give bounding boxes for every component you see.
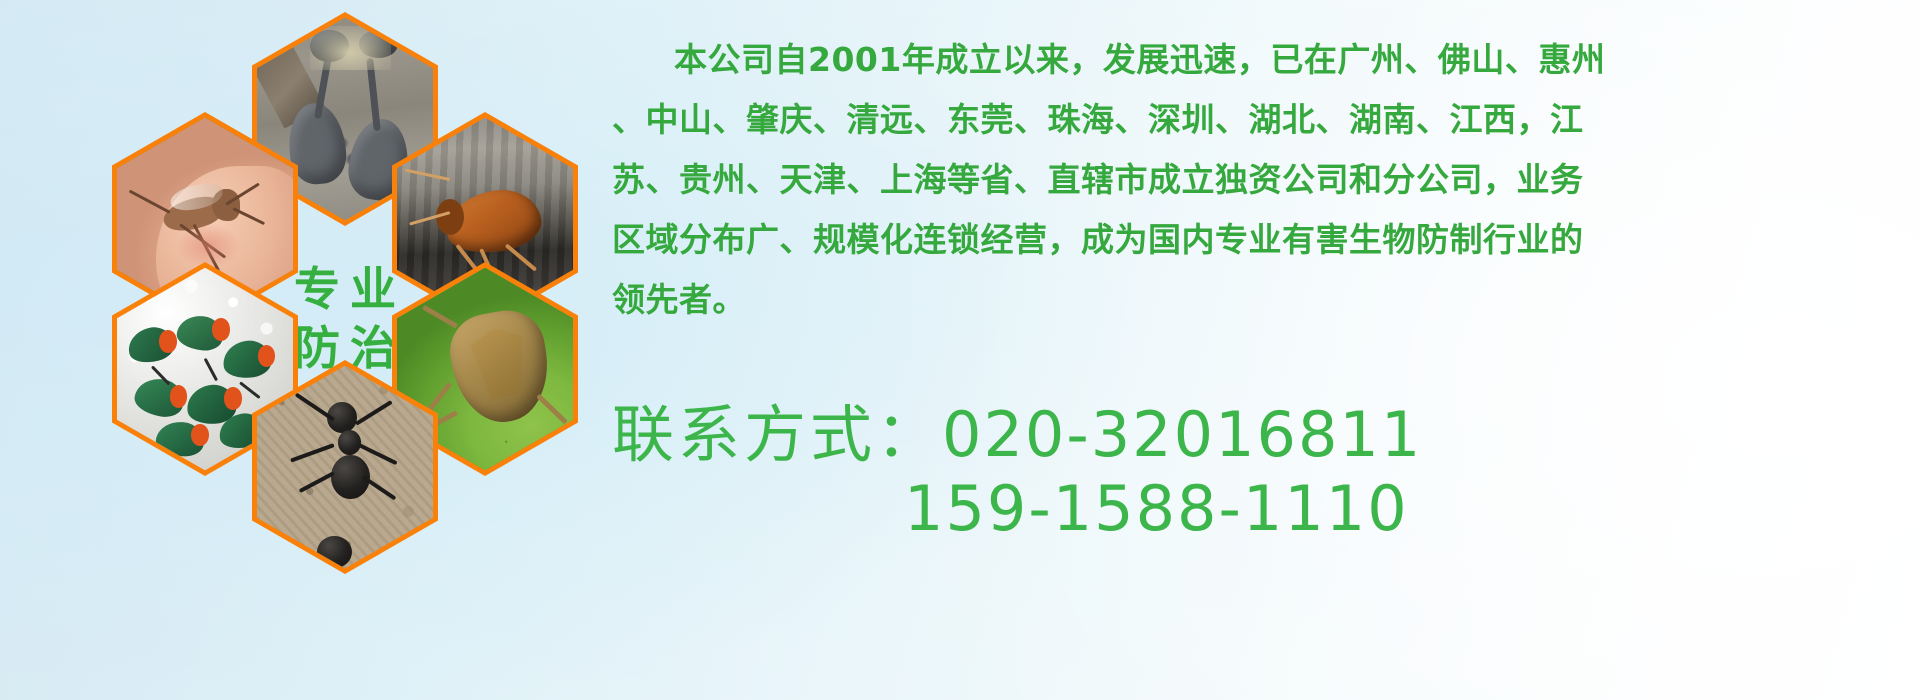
intro-paragraph-block: 本公司自2001年成立以来，发展迅速，已在广州、佛山、惠州 、中山、肇庆、清远、… — [612, 30, 1902, 330]
honeycomb-photo-cluster: 专业 防治 — [92, 0, 592, 585]
promo-banner: 专业 防治 — [0, 0, 1920, 700]
slogan-line-1: 专业 — [284, 265, 406, 314]
phone-number-mobile[interactable]: 159-1588-1110 — [612, 472, 1912, 546]
intro-line-1-text: 本公司自2001年成立以来，发展迅速，已在广州、佛山、惠州 — [674, 40, 1605, 79]
intro-line-5: 领先者。 — [612, 270, 1902, 330]
intro-line-2: 、中山、肇庆、清远、东莞、珠海、深圳、湖北、湖南、江西，江 — [612, 90, 1902, 150]
intro-line-3: 苏、贵州、天津、上海等省、直辖市成立独资公司和分公司，业务 — [612, 150, 1902, 210]
phone-number-landline[interactable]: 020-32016811 — [942, 398, 1422, 471]
contact-block: 联系方式：020-32016811 159-1588-1110 — [612, 398, 1912, 546]
intro-paragraph: 本公司自2001年成立以来，发展迅速，已在广州、佛山、惠州 、中山、肇庆、清远、… — [612, 30, 1902, 330]
intro-line-4: 区域分布广、规模化连锁经营，成为国内专业有害生物防制行业的 — [612, 210, 1902, 270]
contact-label: 联系方式： — [612, 398, 942, 471]
contact-line-primary: 联系方式：020-32016811 — [612, 398, 1912, 472]
intro-line-1: 本公司自2001年成立以来，发展迅速，已在广州、佛山、惠州 — [612, 30, 1902, 90]
